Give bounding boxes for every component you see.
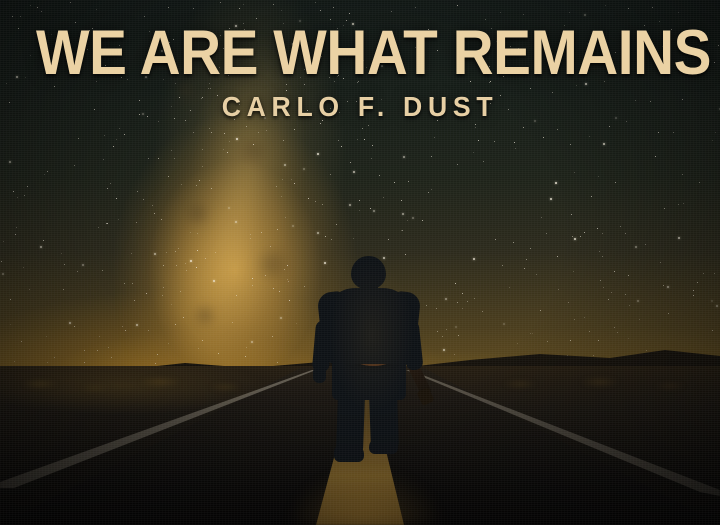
figure-shoe-right (369, 438, 398, 454)
figure-hand-left (313, 366, 326, 383)
figure-head (351, 256, 386, 289)
album-cover-poster: WE ARE WHAT REMAINS CARLO F. DUST (0, 0, 720, 525)
figure-shoe-left (334, 445, 364, 462)
figure-torso (325, 288, 413, 364)
walking-figure (0, 0, 720, 525)
